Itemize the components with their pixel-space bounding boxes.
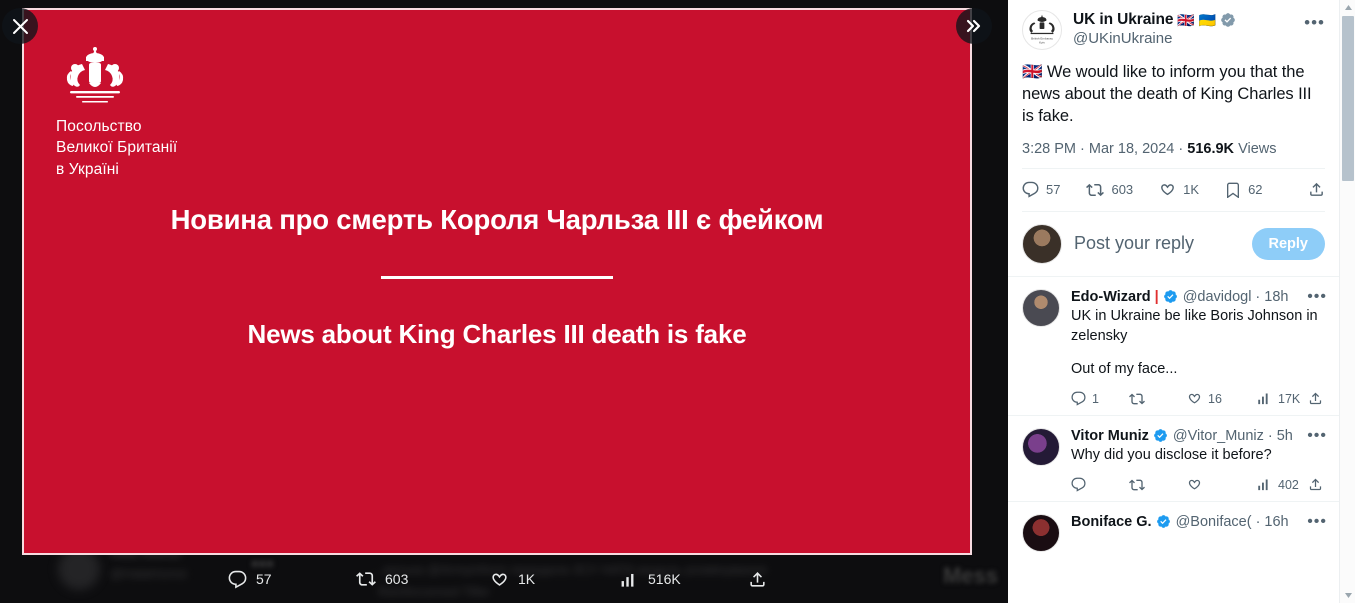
flags-emoji: 🇬🇧 🇺🇦 xyxy=(1177,13,1216,27)
svg-text:Kyiv: Kyiv xyxy=(1039,40,1045,44)
overlay-action-bar: 57 603 1K 516K xyxy=(0,555,1008,603)
reply-like-count: 16 xyxy=(1208,392,1222,406)
poster-headline-ua: Новина про смерть Короля Чарльза III є ф… xyxy=(62,204,932,236)
next-media-icon[interactable] xyxy=(956,8,992,44)
reply-count: 57 xyxy=(1046,182,1060,197)
embassy-name: ПосольствоВеликої Британіїв Україні xyxy=(56,116,177,180)
reply-reply-button[interactable] xyxy=(1071,477,1129,492)
retweet-count: 603 xyxy=(1111,182,1133,197)
retweet-icon xyxy=(1129,477,1145,493)
tweet-stats-row: 57 603 1K 62 xyxy=(1008,169,1339,211)
tweet-views-label: Views xyxy=(1238,141,1276,157)
share-icon xyxy=(1308,181,1325,198)
reply-views-count: 402 xyxy=(1278,478,1299,492)
poster-text-block: Новина про смерть Короля Чарльза III є ф… xyxy=(22,204,972,350)
reply-text: UK in Ukraine be like Boris Johnson in z… xyxy=(1071,306,1327,346)
scrollbar[interactable] xyxy=(1339,0,1355,603)
poster-image[interactable]: ПосольствоВеликої Британіїв Україні Нови… xyxy=(22,8,972,555)
share-icon xyxy=(1308,391,1323,406)
tweet-detail-panel: British Embassy Kyiv UK in Ukraine 🇬🇧 🇺🇦 xyxy=(1008,0,1355,603)
tweet-more-icon[interactable]: ••• xyxy=(1304,14,1325,31)
tweet-display-name: UK in Ukraine xyxy=(1073,11,1173,29)
reply-composer: Post your reply Reply xyxy=(1008,212,1339,276)
royal-crest-icon xyxy=(56,46,134,108)
reply-author-row: Vitor Muniz @Vitor_Muniz · 5h ••• xyxy=(1071,428,1327,444)
retweet-icon xyxy=(1129,391,1145,407)
list-item[interactable]: Edo-Wizard | @davidogl · 18h ••• UK in U… xyxy=(1008,277,1339,415)
list-item[interactable]: Boniface G. @Boniface( · 16h ••• xyxy=(1008,502,1339,552)
scrollbar-down-arrow[interactable] xyxy=(1340,588,1355,603)
reply-text: Why did you disclose it before? xyxy=(1071,445,1327,465)
poster-headline-en: News about King Charles III death is fak… xyxy=(62,319,932,350)
scrollbar-up-arrow[interactable] xyxy=(1340,0,1355,15)
reply-author-row: Boniface G. @Boniface( · 16h ••• xyxy=(1071,514,1327,530)
reply-author-row: Edo-Wizard | @davidogl · 18h ••• xyxy=(1071,289,1327,305)
reply-timestamp: 16h xyxy=(1264,514,1288,530)
reply-share-button[interactable] xyxy=(1308,391,1323,406)
reply-submit-button[interactable]: Reply xyxy=(1252,228,1326,260)
reply-icon xyxy=(1022,181,1039,198)
current-user-avatar[interactable] xyxy=(1022,224,1062,264)
scrollbar-thumb[interactable] xyxy=(1342,16,1354,181)
reply-icon xyxy=(1071,477,1086,492)
share-button[interactable] xyxy=(1308,181,1325,198)
reply-action-row: 402 xyxy=(1071,477,1327,493)
like-icon xyxy=(1187,477,1202,492)
overlay-views-button[interactable]: 516K xyxy=(620,570,681,589)
reply-timestamp: 18h xyxy=(1264,289,1288,305)
reply-sep: · xyxy=(1268,428,1273,444)
overlay-like-count: 1K xyxy=(518,571,535,587)
gray-verified-badge-icon xyxy=(1220,12,1236,28)
share-icon xyxy=(1308,477,1323,492)
tweet-meta: 3:28 PM · Mar 18, 2024 · 516.9K Views xyxy=(1008,128,1339,168)
meta-sep-2: · xyxy=(1178,141,1183,157)
overlay-share-button[interactable] xyxy=(748,570,767,589)
retweet-icon xyxy=(1086,181,1104,199)
overlay-retweet-count: 603 xyxy=(385,571,408,587)
views-icon xyxy=(1257,391,1272,406)
reply-content: Edo-Wizard | @davidogl · 18h ••• UK in U… xyxy=(1071,289,1327,407)
reply-views-count: 17K xyxy=(1278,392,1300,406)
tweet-handle[interactable]: @UKinUkraine xyxy=(1073,30,1236,47)
like-icon xyxy=(1159,181,1176,198)
overlay-reply-button[interactable]: 57 xyxy=(228,570,272,589)
blue-verified-badge-icon xyxy=(1156,514,1172,530)
uk-embassy-crest-icon: British Embassy Kyiv xyxy=(1023,11,1061,49)
reply-icon xyxy=(1071,391,1086,406)
overlay-like-button[interactable]: 1K xyxy=(490,570,535,589)
reply-display-name: Boniface G. xyxy=(1071,514,1152,530)
reply-sep: · xyxy=(1255,289,1260,305)
like-icon xyxy=(490,570,509,589)
tweet-author-row: UK in Ukraine 🇬🇧 🇺🇦 xyxy=(1073,11,1236,29)
reply-icon xyxy=(228,570,247,589)
blue-verified-badge-icon xyxy=(1153,428,1169,444)
reply-content: Boniface G. @Boniface( · 16h ••• xyxy=(1071,514,1327,552)
reply-display-name: Edo-Wizard xyxy=(1071,289,1151,305)
reply-handle[interactable]: @Vitor_Muniz xyxy=(1173,428,1264,444)
overlay-reply-count: 57 xyxy=(256,571,272,587)
reply-retweet-button[interactable] xyxy=(1129,391,1187,407)
reply-pipe-marker: | xyxy=(1155,289,1159,305)
reply-sep: · xyxy=(1256,514,1261,530)
screen: Hala Homsi @HalaHomsi ••• …анська @Armyi… xyxy=(0,0,1355,603)
retweet-button[interactable]: 603 xyxy=(1086,181,1133,199)
overlay-views-count: 516K xyxy=(648,571,681,587)
tweet-text: 🇬🇧 We would like to inform you that the … xyxy=(1008,50,1339,128)
reply-more-icon[interactable]: ••• xyxy=(1301,289,1327,305)
reply-share-button[interactable] xyxy=(1308,477,1323,492)
views-icon xyxy=(620,570,639,589)
bookmark-count: 62 xyxy=(1248,182,1262,197)
reply-views-button[interactable]: 402 xyxy=(1257,477,1299,492)
tweet-detail-content: British Embassy Kyiv UK in Ukraine 🇬🇧 🇺🇦 xyxy=(1008,0,1339,603)
reply-retweet-button[interactable] xyxy=(1129,477,1187,493)
overlay-retweet-button[interactable]: 603 xyxy=(356,569,408,589)
reply-like-button[interactable] xyxy=(1187,477,1257,492)
share-icon xyxy=(748,570,767,589)
reply-timestamp: 5h xyxy=(1277,428,1293,444)
list-item[interactable]: Vitor Muniz @Vitor_Muniz · 5h ••• Why di… xyxy=(1008,416,1339,501)
reply-more-icon[interactable]: ••• xyxy=(1301,514,1327,530)
tweet-header: British Embassy Kyiv UK in Ukraine 🇬🇧 🇺🇦 xyxy=(1008,0,1339,50)
avatar[interactable] xyxy=(1022,289,1060,327)
close-icon[interactable] xyxy=(2,8,38,44)
reply-text-2: Out of my face... xyxy=(1071,359,1327,379)
reply-content: Vitor Muniz @Vitor_Muniz · 5h ••• Why di… xyxy=(1071,428,1327,493)
reply-reply-count: 1 xyxy=(1092,392,1099,406)
bookmark-icon xyxy=(1225,182,1241,198)
views-icon xyxy=(1257,477,1272,492)
tweet-date: Mar 18, 2024 xyxy=(1089,141,1174,157)
avatar[interactable] xyxy=(1022,514,1060,552)
reply-display-name: Vitor Muniz xyxy=(1071,428,1149,444)
media-lightbox: Hala Homsi @HalaHomsi ••• …анська @Armyi… xyxy=(0,0,1008,603)
reply-handle[interactable]: @davidogl xyxy=(1183,289,1252,305)
like-count: 1K xyxy=(1183,182,1199,197)
blue-verified-badge-icon xyxy=(1163,289,1179,305)
tweet-author-names: UK in Ukraine 🇬🇧 🇺🇦 @UKinUkraine xyxy=(1073,10,1236,47)
reply-more-icon[interactable]: ••• xyxy=(1301,428,1327,444)
avatar[interactable]: British Embassy Kyiv xyxy=(1022,10,1062,50)
like-icon xyxy=(1187,391,1202,406)
reply-reply-button[interactable]: 1 xyxy=(1071,391,1129,406)
tweet-time: 3:28 PM xyxy=(1022,141,1076,157)
retweet-icon xyxy=(356,569,376,589)
poster-divider xyxy=(381,276,613,279)
reply-like-button[interactable]: 16 xyxy=(1187,391,1257,406)
bookmark-button[interactable]: 62 xyxy=(1225,182,1262,198)
reply-views-button[interactable]: 17K xyxy=(1257,391,1300,406)
like-button[interactable]: 1K xyxy=(1159,181,1199,198)
reply-button[interactable]: 57 xyxy=(1022,181,1060,198)
reply-handle[interactable]: @Boniface( xyxy=(1176,514,1252,530)
reply-action-row: 1 16 17K xyxy=(1071,391,1327,407)
meta-sep-1: · xyxy=(1080,141,1085,157)
reply-input[interactable]: Post your reply xyxy=(1074,233,1240,254)
tweet-views-count: 516.9K xyxy=(1187,141,1234,157)
avatar[interactable] xyxy=(1022,428,1060,466)
